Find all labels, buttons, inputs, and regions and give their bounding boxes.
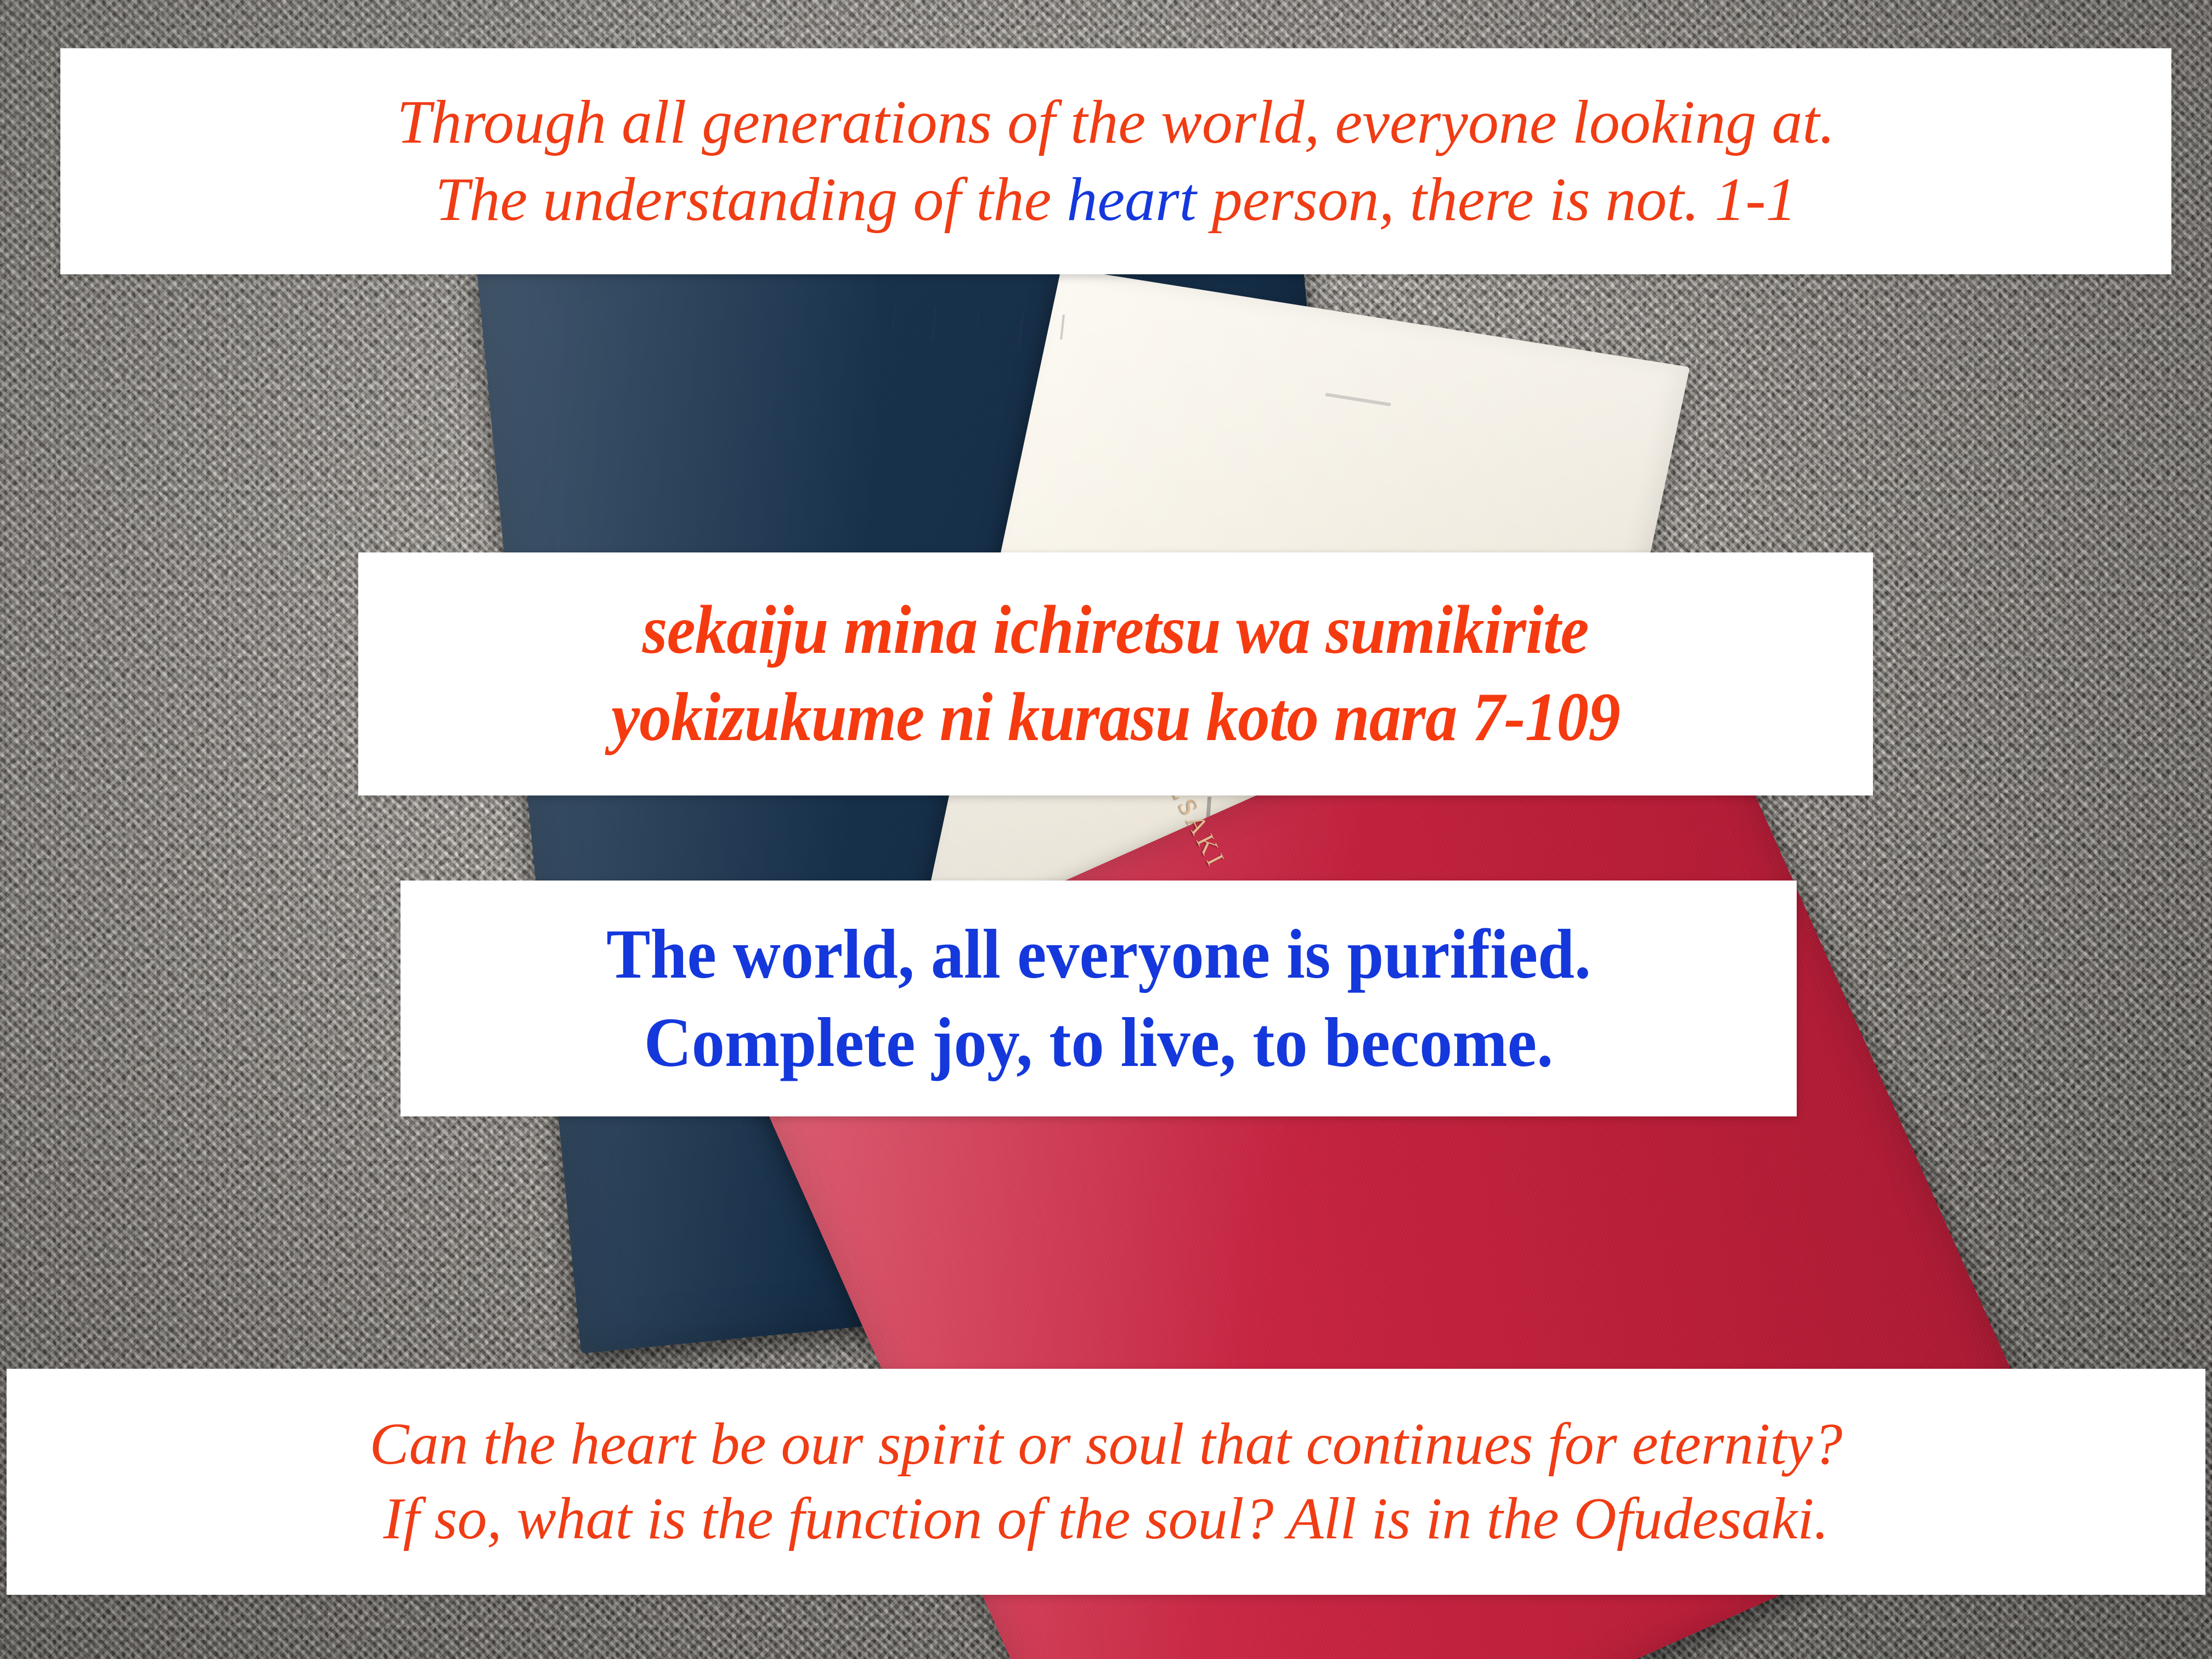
caption-box-translation: The world, all everyone is purified. Com… xyxy=(400,881,1797,1116)
caption-top-line-2-suffix: person, there is not. 1-1 xyxy=(1197,166,1797,234)
caption-box-top: Through all generations of the world, ev… xyxy=(60,48,2171,274)
caption-romaji-line-2: yokizukume ni kurasu koto nara 7-109 xyxy=(611,674,1620,761)
caption-bottom-line-1: Can the heart be our spirit or soul that… xyxy=(370,1407,1843,1482)
caption-top-line-1: Through all generations of the world, ev… xyxy=(397,84,1835,161)
caption-box-bottom: Can the heart be our spirit or soul that… xyxy=(7,1369,2205,1595)
caption-top-line-2: The understanding of the heart person, t… xyxy=(435,161,1796,239)
caption-top-highlight-word: heart xyxy=(1066,166,1196,234)
caption-translation-line-2: Complete joy, to live, to become. xyxy=(644,998,1553,1087)
caption-box-romaji: sekaiju mina ichiretsu wa sumikirite yok… xyxy=(358,552,1873,795)
pencil-writing-marks xyxy=(717,297,1085,566)
caption-romaji-line-1: sekaiju mina ichiretsu wa sumikirite xyxy=(642,587,1589,674)
slide-canvas: OFUDESAKI English, Japanese, and Rom DES… xyxy=(0,0,2212,1659)
caption-top-line-2-prefix: The understanding of the xyxy=(435,166,1066,234)
caption-bottom-line-2: If so, what is the function of the soul?… xyxy=(383,1482,1829,1556)
caption-translation-line-1: The world, all everyone is purified. xyxy=(606,910,1591,998)
